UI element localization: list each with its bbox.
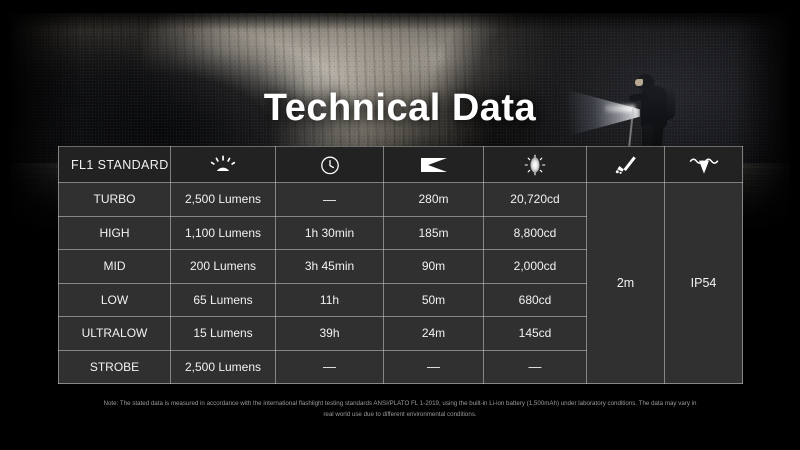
table-header-row: FL1 STANDARD xyxy=(59,147,743,183)
intensity-value: 2,000cd xyxy=(484,250,587,284)
distance-value: 90m xyxy=(384,250,484,284)
water-resistance-icon xyxy=(665,147,743,183)
distance-value: 24m xyxy=(384,317,484,351)
mode-label: TURBO xyxy=(59,183,171,217)
runtime-value: — xyxy=(276,350,384,384)
peak-beam-intensity-icon xyxy=(484,147,587,183)
distance-value: 185m xyxy=(384,216,484,250)
mode-label: HIGH xyxy=(59,216,171,250)
runtime-value: 39h xyxy=(276,317,384,351)
distance-value: 50m xyxy=(384,283,484,317)
mode-label: STROBE xyxy=(59,350,171,384)
lumens-value: 1,100 Lumens xyxy=(171,216,276,250)
technical-data-table: FL1 STANDARD xyxy=(58,146,743,384)
technical-data-table-wrapper: FL1 STANDARD xyxy=(58,146,742,384)
page-title: Technical Data xyxy=(0,87,800,130)
footnote: Note: The stated data is measured in acc… xyxy=(100,399,700,421)
mode-label: ULTRALOW xyxy=(59,317,171,351)
intensity-value: 8,800cd xyxy=(484,216,587,250)
runtime-value: 3h 45min xyxy=(276,250,384,284)
distance-value: 280m xyxy=(384,183,484,217)
distance-value: — xyxy=(384,350,484,384)
table-row: TURBO 2,500 Lumens — 280m 20,720cd 2m IP… xyxy=(59,183,743,217)
runtime-value: 11h xyxy=(276,283,384,317)
intensity-value: 145cd xyxy=(484,317,587,351)
impact-resistance-value: 2m xyxy=(587,183,665,384)
runtime-value: — xyxy=(276,183,384,217)
beam-distance-icon xyxy=(384,147,484,183)
intensity-value: — xyxy=(484,350,587,384)
mode-label: MID xyxy=(59,250,171,284)
header-fl1-standard: FL1 STANDARD xyxy=(59,147,171,183)
caver-face xyxy=(635,79,643,86)
clock-icon xyxy=(276,147,384,183)
intensity-value: 20,720cd xyxy=(484,183,587,217)
intensity-value: 680cd xyxy=(484,283,587,317)
brightness-icon xyxy=(171,147,276,183)
lumens-value: 2,500 Lumens xyxy=(171,183,276,217)
technical-data-slide: Technical Data FL1 STANDARD xyxy=(0,0,800,450)
lumens-value: 65 Lumens xyxy=(171,283,276,317)
lumens-value: 200 Lumens xyxy=(171,250,276,284)
lumens-value: 15 Lumens xyxy=(171,317,276,351)
lumens-value: 2,500 Lumens xyxy=(171,350,276,384)
impact-resistance-icon xyxy=(587,147,665,183)
water-resistance-value: IP54 xyxy=(665,183,743,384)
runtime-value: 1h 30min xyxy=(276,216,384,250)
mode-label: LOW xyxy=(59,283,171,317)
